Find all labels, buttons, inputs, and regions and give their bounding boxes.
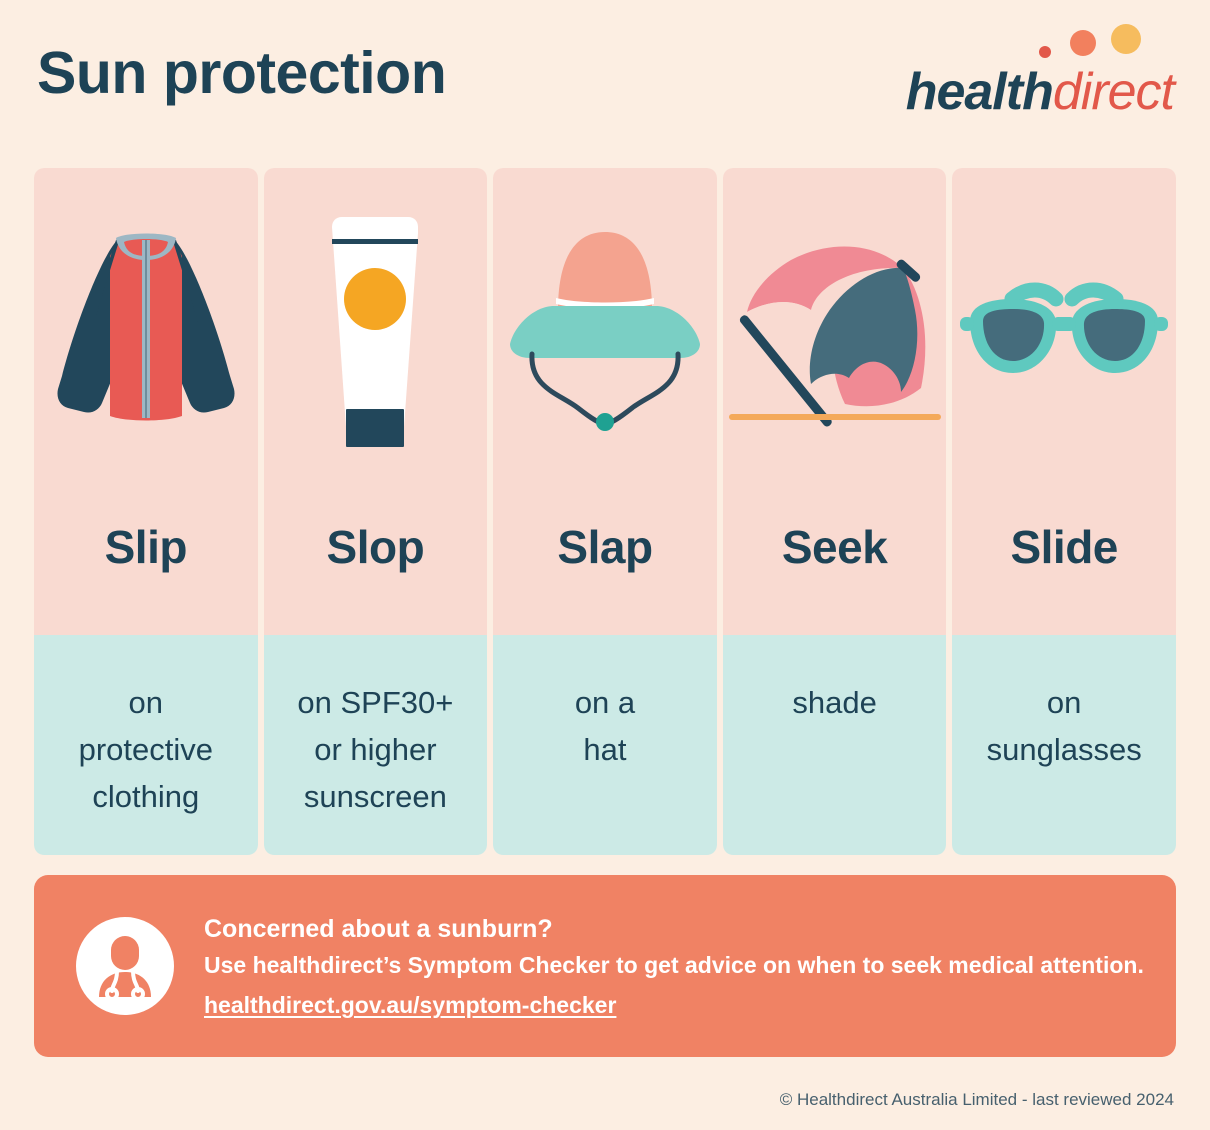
card-slide-description: on sunglasses xyxy=(981,679,1148,773)
card-slap-description: on a hat xyxy=(569,679,641,773)
symptom-checker-link[interactable]: healthdirect.gov.au/symptom-checker xyxy=(204,992,616,1019)
card-slop[interactable]: Slop on SPF30+ or higher sunscreen xyxy=(264,168,488,855)
page-title: Sun protection xyxy=(37,44,446,103)
doctor-avatar-icon xyxy=(76,917,174,1015)
card-slop-word: Slop xyxy=(264,520,488,574)
cta-body: Use healthdirect’s Symptom Checker to ge… xyxy=(204,950,1146,981)
card-slide-word: Slide xyxy=(952,520,1176,574)
card-slide[interactable]: Slide on sunglasses xyxy=(952,168,1176,855)
logo-direct-text: direct xyxy=(1053,63,1174,121)
logo-dot-small-icon xyxy=(1039,46,1051,58)
symptom-checker-banner[interactable]: Concerned about a sunburn? Use healthdir… xyxy=(34,875,1176,1057)
healthdirect-logo: healthdirect xyxy=(854,22,1174,122)
card-seek[interactable]: Seek shade xyxy=(723,168,947,855)
card-slap-top: Slap xyxy=(493,168,717,635)
card-slop-top: Slop xyxy=(264,168,488,635)
sunglasses-icon xyxy=(952,168,1176,498)
copyright-notice: © Healthdirect Australia Limited - last … xyxy=(780,1090,1174,1110)
card-seek-word: Seek xyxy=(723,520,947,574)
card-seek-description: shade xyxy=(786,679,882,726)
card-slap-word: Slap xyxy=(493,520,717,574)
infographic-page: Sun protection healthdirect xyxy=(0,0,1210,1130)
card-slide-top: Slide xyxy=(952,168,1176,635)
card-seek-bottom: shade xyxy=(723,635,947,855)
card-slip-word: Slip xyxy=(34,520,258,574)
card-slop-bottom: on SPF30+ or higher sunscreen xyxy=(264,635,488,855)
bucket-hat-icon xyxy=(493,168,717,498)
sunscreen-tube-icon xyxy=(264,168,488,498)
header: Sun protection healthdirect xyxy=(0,0,1210,160)
cta-heading: Concerned about a sunburn? xyxy=(204,913,1146,947)
card-slap[interactable]: Slap on a hat xyxy=(493,168,717,855)
logo-dot-large-icon xyxy=(1111,24,1141,54)
logo-wordmark: healthdirect xyxy=(854,66,1174,118)
card-slip[interactable]: Slip on protective clothing xyxy=(34,168,258,855)
sun-protection-cards: Slip on protective clothing xyxy=(34,168,1176,855)
logo-health-text: health xyxy=(906,63,1053,121)
card-slop-description: on SPF30+ or higher sunscreen xyxy=(291,679,459,820)
logo-dot-medium-icon xyxy=(1070,30,1096,56)
card-slide-bottom: on sunglasses xyxy=(952,635,1176,855)
card-seek-top: Seek xyxy=(723,168,947,635)
beach-umbrella-icon xyxy=(723,168,947,498)
protective-clothing-icon xyxy=(34,168,258,498)
symptom-checker-text: Concerned about a sunburn? Use healthdir… xyxy=(204,913,1176,1019)
card-slip-description: on protective clothing xyxy=(73,679,219,820)
card-slip-top: Slip xyxy=(34,168,258,635)
card-slap-bottom: on a hat xyxy=(493,635,717,855)
card-slip-bottom: on protective clothing xyxy=(34,635,258,855)
